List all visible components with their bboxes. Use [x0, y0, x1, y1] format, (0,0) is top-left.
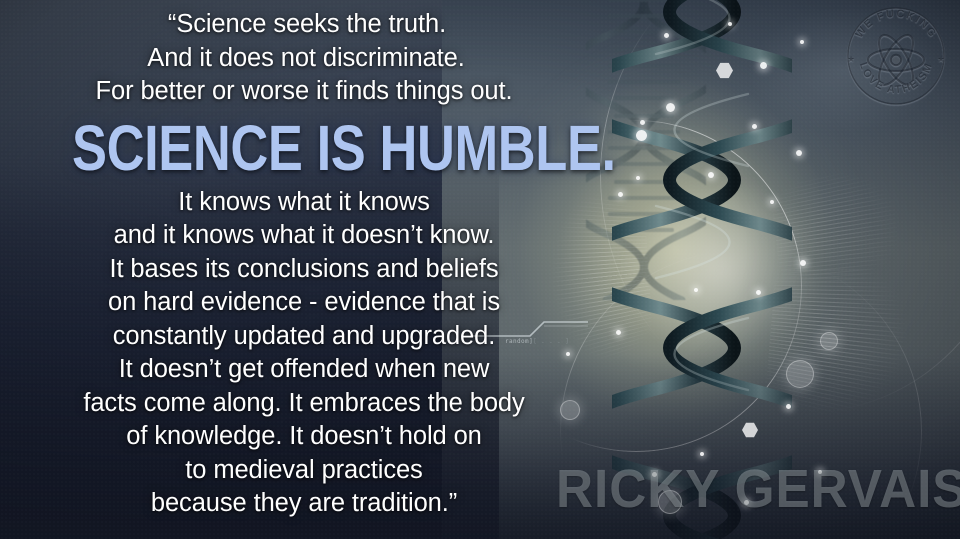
quote-line: It bases its conclusions and beliefs: [0, 253, 608, 287]
quote-line: “Science seeks the truth.: [0, 8, 608, 42]
logo-left-star: ★: [847, 54, 855, 64]
logo-top-arc-text: WE FUCKING: [853, 8, 939, 41]
quote-intro: “Science seeks the truth. And it does no…: [0, 8, 608, 109]
quote-line: constantly updated and upgraded.: [0, 320, 608, 354]
quote-line: facts come along. It embraces the body: [0, 387, 608, 421]
quote-line: It doesn’t get offended when new: [0, 353, 608, 387]
quote-line: on hard evidence - evidence that is: [0, 286, 608, 320]
logo-top-arc-label: WE FUCKING: [853, 8, 939, 41]
quote-line: of knowledge. It doesn’t hold on: [0, 420, 608, 454]
logo-right-star: ★: [937, 54, 945, 64]
quote-line: And it does not discriminate.: [0, 42, 608, 76]
quote-block: “Science seeks the truth. And it does no…: [0, 0, 608, 521]
quote-body: It knows what it knows and it knows what…: [0, 186, 608, 521]
quote-line: to medieval practices: [0, 454, 608, 488]
we-fucking-love-atheism-logo[interactable]: WE FUCKING LOVE ATHEISM ★ ★: [844, 4, 948, 108]
quote-line: and it knows what it doesn’t know.: [0, 219, 608, 253]
quote-line: For better or worse it finds things out.: [0, 75, 608, 109]
quote-line: because they are tradition.”: [0, 487, 608, 521]
poster-canvas: random][ . . . ] RICKY GERVAIS “Science …: [0, 0, 960, 539]
headline: SCIENCE IS HUMBLE.: [0, 118, 608, 178]
headline-text: SCIENCE IS HUMBLE.: [72, 118, 616, 178]
quote-line: It knows what it knows: [0, 186, 608, 220]
